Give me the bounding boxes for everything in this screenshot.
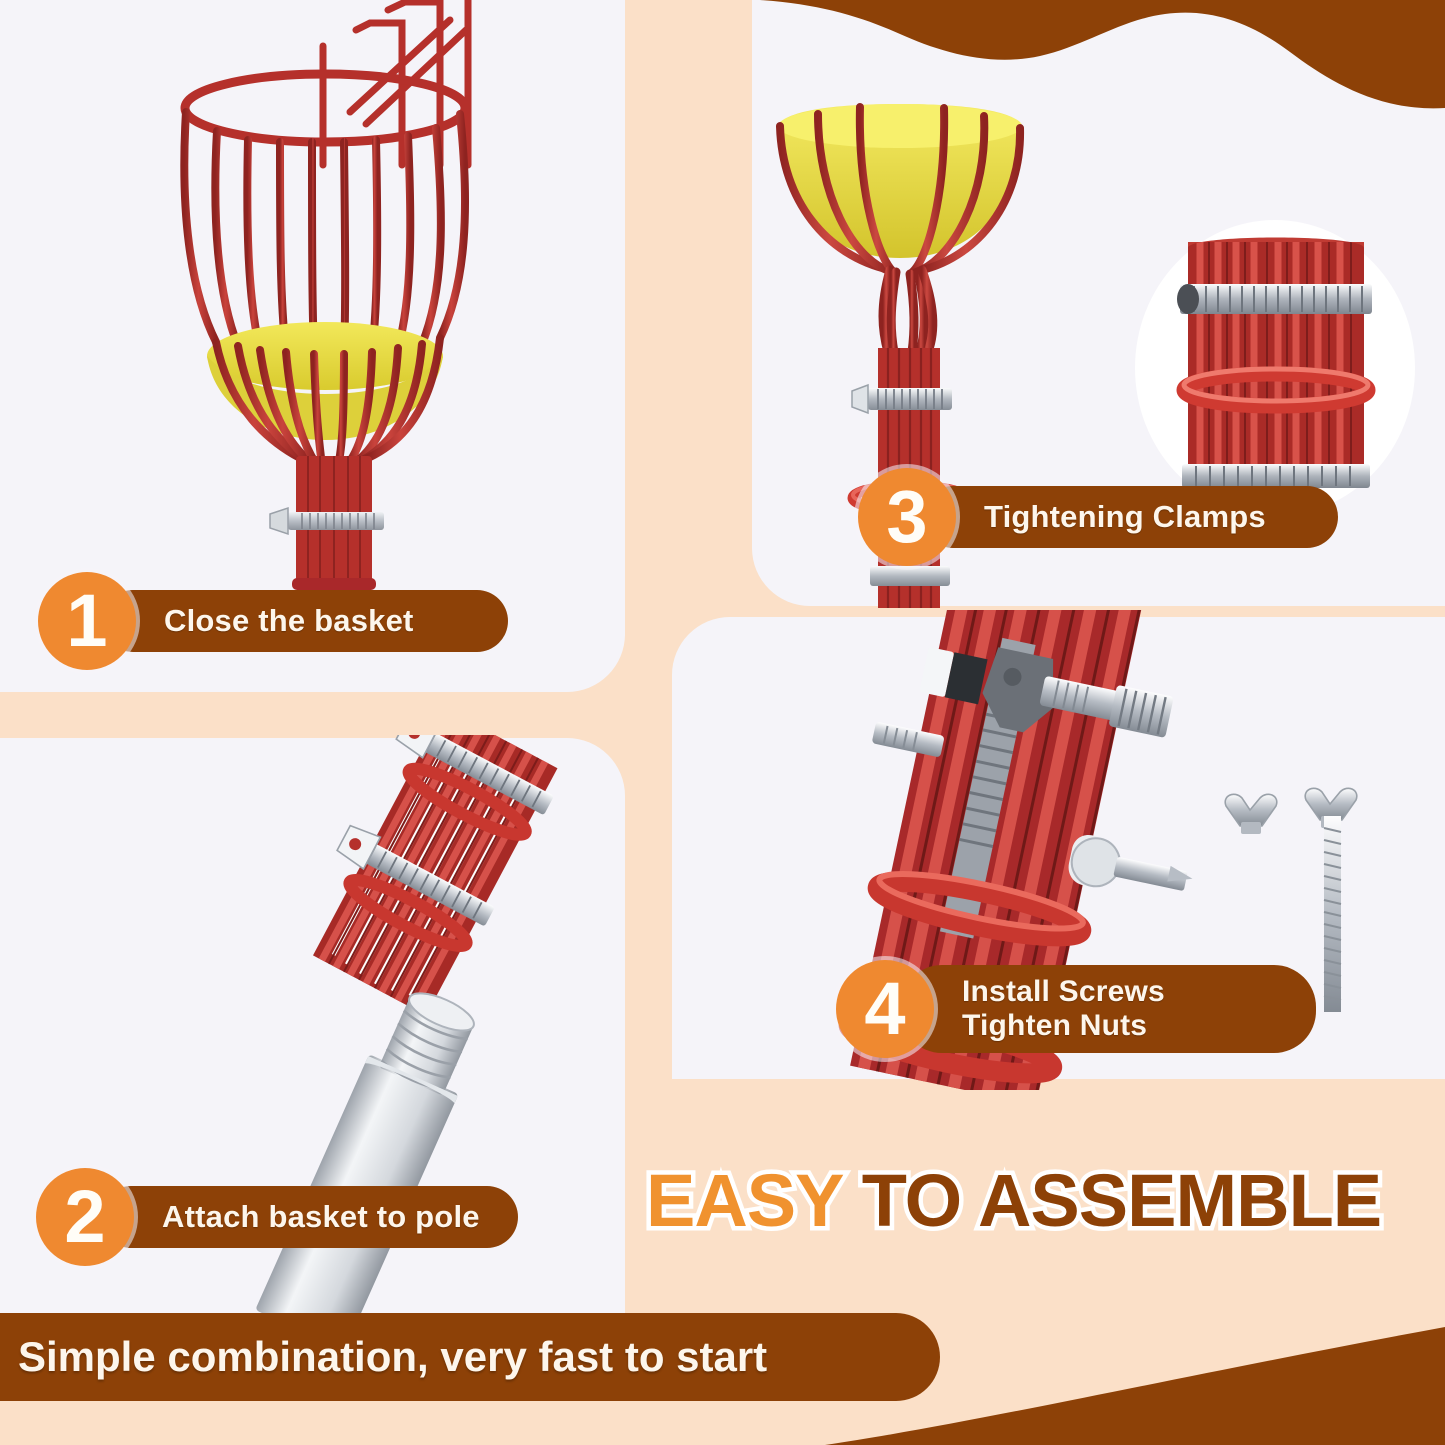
infographic-canvas: 1 Close the basket 3 Tightening Clamps 2… [0,0,1445,1445]
step-number-3: 3 [858,468,956,566]
headline: EASY TO ASSEMBLE [646,1158,1436,1243]
step-badge-4[interactable]: 4 Install Screws Tighten Nuts [836,960,1316,1058]
headline-word-to-assemble: TO ASSEMBLE [862,1159,1381,1242]
headline-word-easy: EASY [646,1159,862,1242]
step-number-1: 1 [38,572,136,670]
step-badge-3[interactable]: 3 Tightening Clamps [858,468,1338,566]
step-number-2: 2 [36,1168,134,1266]
step-badge-1[interactable]: 1 Close the basket [38,572,508,670]
bottom-banner-text: Simple combination, very fast to start [18,1333,767,1381]
bottom-banner: Simple combination, very fast to start [0,1313,940,1401]
step-label-4: Install Screws Tighten Nuts [900,965,1316,1052]
step-number-4: 4 [836,960,934,1058]
step-badge-2[interactable]: 2 Attach basket to pole [36,1168,518,1266]
step-label-2: Attach basket to pole [100,1186,518,1249]
step-label-3: Tightening Clamps [922,486,1338,549]
step-label-1: Close the basket [102,590,508,653]
